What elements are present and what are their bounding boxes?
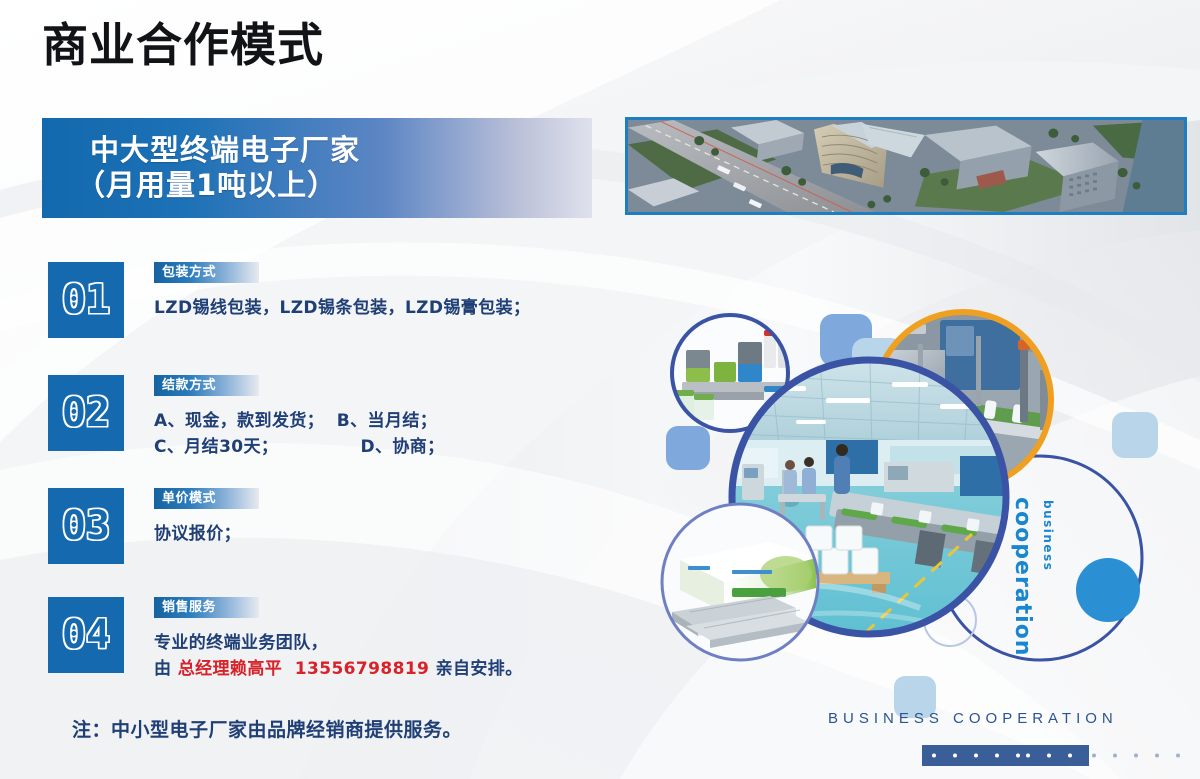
subtitle-line-1: 中大型终端电子厂家 <box>90 133 592 168</box>
item-02-line-2: C、月结30天； D、协商； <box>154 434 445 460</box>
item-01-body: 包装方式 LZD锡线包装，LZD锡条包装，LZD锡膏包装； <box>154 262 530 321</box>
contact-suffix: 亲自安排。 <box>429 659 522 679</box>
item-04-line-1: 专业的终端业务团队， <box>154 630 523 656</box>
vertical-label-business: business <box>1041 500 1055 571</box>
dotted-bar <box>922 745 1192 766</box>
campus-aerial-photo <box>625 117 1187 215</box>
item-03-line-1: 协议报价； <box>154 521 259 547</box>
poster-page: 商业合作模式 中大型终端电子厂家 （月用量1吨以上） <box>0 0 1200 779</box>
footer-note: 注：中小型电子厂家由品牌经销商提供服务。 <box>72 715 462 742</box>
subtitle-line-2: （月用量1吨以上） <box>76 168 592 203</box>
item-03-number-box: 03 <box>48 488 124 564</box>
item-01-number: 01 <box>62 280 110 320</box>
page-title: 商业合作模式 <box>42 22 324 68</box>
decor-solid-circle <box>1076 558 1140 622</box>
campus-illustration <box>628 120 1184 212</box>
subtitle-banner: 中大型终端电子厂家 （月用量1吨以上） <box>42 118 592 218</box>
item-03-tag: 单价模式 <box>154 488 259 509</box>
decor-square-3 <box>666 426 710 470</box>
item-02-body: 结款方式 A、现金，款到发货； B、当月结； C、月结30天； D、协商； <box>154 375 445 461</box>
item-03-number: 03 <box>62 506 110 546</box>
item-01-line-1: LZD锡线包装，LZD锡条包装，LZD锡膏包装； <box>154 295 530 321</box>
item-01-number-box: 01 <box>48 262 124 338</box>
item-04-number-box: 04 <box>48 597 124 673</box>
item-02-number: 02 <box>62 393 110 433</box>
photo-circle-solder-box <box>662 504 818 660</box>
cooperation-graphic-cluster <box>620 290 1200 720</box>
item-04-number: 04 <box>62 615 110 655</box>
item-04-contact-line: 由 总经理赖高平 13556798819 亲自安排。 <box>154 656 523 682</box>
item-02-number-box: 02 <box>48 375 124 451</box>
contact-manager: 总经理赖高平 <box>178 659 282 679</box>
item-03-body: 单价模式 协议报价； <box>154 488 259 547</box>
item-02-tag: 结款方式 <box>154 375 259 396</box>
contact-phone[interactable]: 13556798819 <box>295 659 430 679</box>
item-01-tag: 包装方式 <box>154 262 259 283</box>
decor-square-4 <box>1112 412 1158 458</box>
vertical-label-cooperation: cooperation <box>1010 497 1035 656</box>
item-04-body: 销售服务 专业的终端业务团队， 由 总经理赖高平 13556798819 亲自安… <box>154 597 523 683</box>
item-04-tag: 销售服务 <box>154 597 259 618</box>
bottom-caption: BUSINESS COOPERATION <box>828 710 1118 727</box>
contact-prefix: 由 <box>154 659 178 679</box>
item-02-line-1: A、现金，款到发货； B、当月结； <box>154 408 445 434</box>
